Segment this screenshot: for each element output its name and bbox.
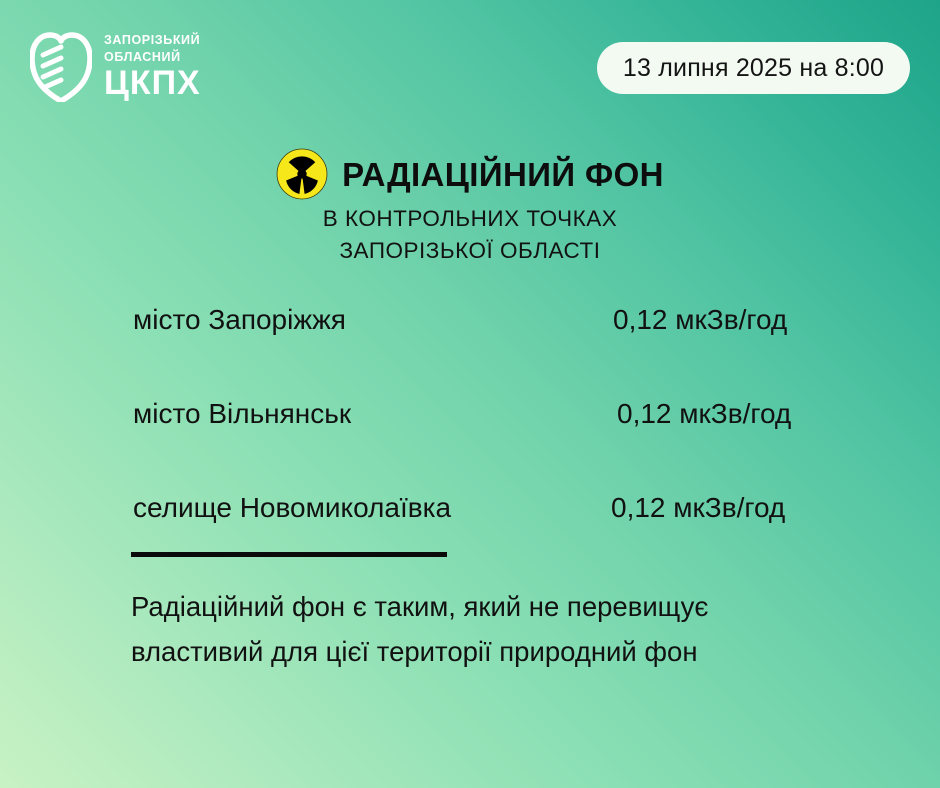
organization-line-1: ЗАПОРІЗЬКИЙ — [104, 34, 201, 47]
title-main-row: РАДІАЦІЙНИЙ ФОН — [0, 148, 940, 200]
section-divider — [131, 552, 447, 557]
footnote-block: Радіаційний фон є таким, який не перевищ… — [131, 585, 921, 674]
footnote-line-1: Радіаційний фон є таким, який не перевищ… — [131, 585, 921, 630]
measurement-row: місто Вільнянськ 0,12 мкЗв/год — [0, 386, 940, 480]
measurement-value: 0,12 мкЗв/год — [617, 398, 791, 430]
organization-acronym: ЦКПХ — [104, 67, 201, 99]
measurement-row: селище Новомиколаївка 0,12 мкЗв/год — [0, 480, 940, 574]
date-badge-text: 13 липня 2025 на 8:00 — [623, 54, 884, 83]
title-block: РАДІАЦІЙНИЙ ФОН В КОНТРОЛЬНИХ ТОЧКАХ ЗАП… — [0, 148, 940, 267]
measurement-location: місто Запоріжжя — [133, 304, 346, 336]
measurement-value: 0,12 мкЗв/год — [613, 304, 787, 336]
radiation-warning-icon — [276, 148, 328, 200]
measurement-location: місто Вільнянськ — [133, 398, 351, 430]
title-subtitle-line-1: В КОНТРОЛЬНИХ ТОЧКАХ — [0, 203, 940, 235]
organization-logo: ЗАПОРІЗЬКИЙ ОБЛАСНИЙ ЦКПХ — [30, 32, 201, 102]
date-badge: 13 липня 2025 на 8:00 — [597, 42, 910, 94]
title-subtitle-line-2: ЗАПОРІЗЬКОЇ ОБЛАСТІ — [0, 235, 940, 267]
measurement-location: селище Новомиколаївка — [133, 492, 451, 524]
measurement-value: 0,12 мкЗв/год — [611, 492, 785, 524]
radiation-background-poster: ЗАПОРІЗЬКИЙ ОБЛАСНИЙ ЦКПХ 13 липня 2025 … — [0, 0, 940, 788]
measurement-row: місто Запоріжжя 0,12 мкЗв/год — [0, 292, 940, 386]
measurements-list: місто Запоріжжя 0,12 мкЗв/год місто Віль… — [0, 292, 940, 574]
header-bar: ЗАПОРІЗЬКИЙ ОБЛАСНИЙ ЦКПХ 13 липня 2025 … — [0, 0, 940, 130]
organization-line-2: ОБЛАСНИЙ — [104, 51, 201, 64]
shield-heart-logo-icon — [30, 32, 92, 102]
organization-name-block: ЗАПОРІЗЬКИЙ ОБЛАСНИЙ ЦКПХ — [104, 34, 201, 99]
page-title: РАДІАЦІЙНИЙ ФОН — [342, 156, 664, 194]
footnote-line-2: властивий для цієї території природний ф… — [131, 630, 921, 675]
